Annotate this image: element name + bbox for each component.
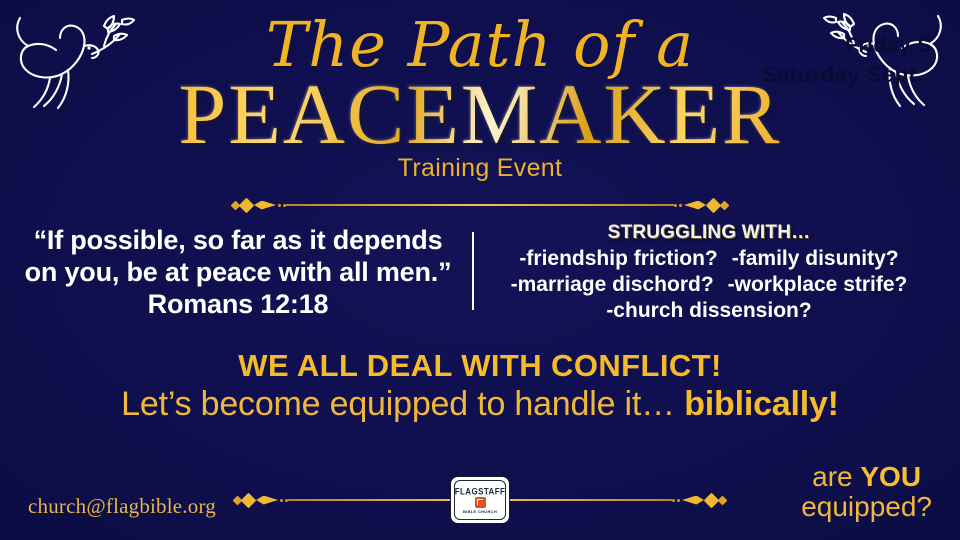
headline-equipped: Let’s become equipped to handle it… bibl…: [0, 385, 960, 424]
ornamental-divider-top: [232, 197, 728, 213]
flag-icon: [475, 497, 486, 508]
scripture-quote: “If possible, so far as it depends on yo…: [18, 225, 458, 321]
divider-rule: [286, 204, 674, 206]
struggling-heading: STRUGGLING WITH…: [484, 222, 934, 244]
struggle-item: -family disunity?: [732, 247, 899, 272]
headline-equipped-bold: biblically!: [684, 385, 839, 423]
cta-line-2: equipped?: [801, 492, 932, 522]
call-to-action: are YOU equipped?: [801, 462, 932, 522]
divider-ornament-right: [672, 495, 726, 506]
flagstaff-bible-church-logo: FLAGSTAFF BIBLE CHURCH: [451, 477, 509, 523]
page-title: PEACEMAKER: [179, 72, 782, 156]
struggling-section: STRUGGLING WITH… -friendship friction? -…: [484, 222, 934, 323]
struggle-item: -marriage dischord?: [511, 273, 714, 298]
contact-email[interactable]: church@flagbible.org: [28, 494, 216, 519]
divider-ornament-right: [674, 200, 728, 211]
struggle-item: -church dissension?: [484, 299, 934, 324]
cta-line-1: are YOU: [801, 462, 932, 492]
headline-equipped-plain: Let’s become equipped to handle it…: [121, 385, 684, 423]
divider-ornament-left: [234, 495, 288, 506]
logo-bottom-text: BIBLE CHURCH: [463, 509, 497, 514]
struggle-item: -friendship friction?: [519, 247, 717, 272]
headline-conflict: WE ALL DEAL WITH CONFLICT!: [0, 348, 960, 384]
flyer-canvas: Friday S Saturday Sept. The Path of a PE…: [0, 0, 960, 540]
logo-top-text: FLAGSTAFF: [455, 486, 506, 496]
cta-plain: are: [812, 461, 860, 492]
cta-bold: YOU: [860, 461, 921, 492]
vertical-divider: [472, 232, 474, 310]
struggle-item: -workplace strife?: [728, 273, 908, 298]
title-block: The Path of a PEACEMAKER Training Event: [0, 14, 960, 183]
divider-ornament-left: [232, 200, 286, 211]
